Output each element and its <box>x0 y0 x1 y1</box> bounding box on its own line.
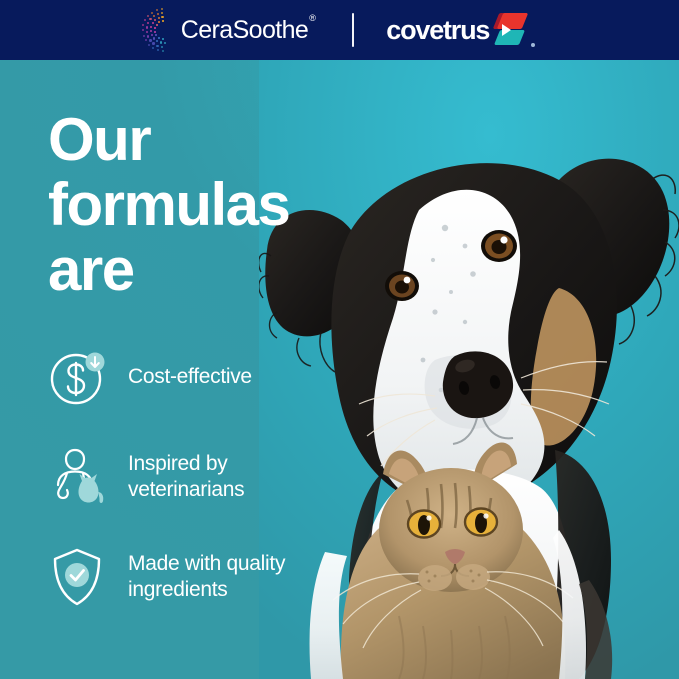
cerasoothe-name: CeraSoothe <box>181 16 308 44</box>
covetrus-wordmark: covetrus <box>386 15 489 46</box>
feature-label-inspired-by-veterinarians: Inspired by veterinarians <box>128 451 244 502</box>
feature-item-made-with-quality-ingredients: Made with quality ingredients <box>46 545 366 609</box>
brand-header-bar: CeraSoothe® covetrus <box>0 0 679 60</box>
veterinarian-with-cat-icon <box>46 445 110 509</box>
dog-right-eye <box>481 230 517 262</box>
feature-item-cost-effective: Cost-effective <box>46 345 366 409</box>
dollar-circle-down-arrow-icon <box>46 345 110 409</box>
feature-label-line: ingredients <box>128 577 285 603</box>
feature-label-cost-effective: Cost-effective <box>128 364 252 390</box>
dog-left-eye <box>385 271 419 301</box>
cerasoothe-wordmark: CeraSoothe® <box>181 16 314 45</box>
covetrus-arrow-mark-icon <box>493 11 535 49</box>
page-title: Our formulas are <box>48 108 289 302</box>
feature-list: Cost-effective I <box>46 345 366 645</box>
feature-label-line: veterinarians <box>128 477 244 503</box>
feature-label-line: Cost-effective <box>128 364 252 390</box>
feature-label-made-with-quality-ingredients: Made with quality ingredients <box>128 551 285 602</box>
cat-left-eye <box>408 511 440 538</box>
headline-line-2: formulas <box>48 173 289 238</box>
feature-item-inspired-by-veterinarians: Inspired by veterinarians <box>46 445 366 509</box>
cat-right-eye <box>465 509 497 536</box>
cerasoothe-swirl-icon <box>144 9 184 51</box>
covetrus-mark-dot <box>531 43 535 47</box>
headline-line-1: Our <box>48 108 289 173</box>
feature-label-line: Inspired by <box>128 451 244 477</box>
covetrus-logo: covetrus <box>386 11 535 49</box>
cerasoothe-logo: CeraSoothe® <box>144 9 320 51</box>
cerasoothe-trademark: ® <box>309 13 315 23</box>
marketing-banner: CeraSoothe® covetrus <box>0 0 679 679</box>
feature-label-line: Made with quality <box>128 551 285 577</box>
brand-lockup: CeraSoothe® covetrus <box>144 9 535 51</box>
shield-check-icon <box>46 545 110 609</box>
covetrus-mark-triangle <box>502 24 511 36</box>
vertical-divider <box>352 13 354 47</box>
headline-line-3: are <box>48 238 289 303</box>
